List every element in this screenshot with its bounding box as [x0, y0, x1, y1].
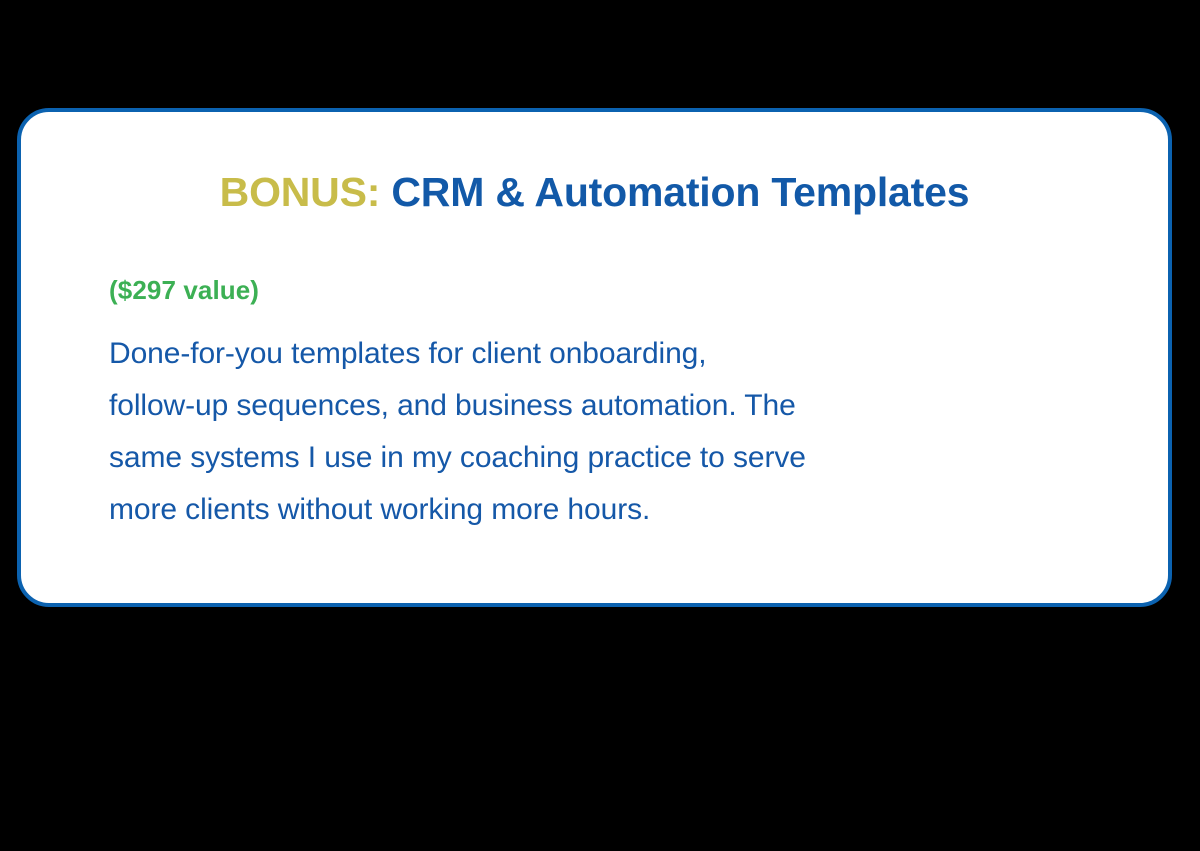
- body-line: follow-up sequences, and business automa…: [109, 380, 1077, 432]
- card-body-text: Done-for-you templates for client onboar…: [109, 328, 1077, 536]
- body-line: more clients without working more hours.: [109, 484, 1077, 536]
- heading-bonus-label: BONUS:: [220, 169, 381, 215]
- card-heading: BONUS: CRM & Automation Templates: [21, 169, 1168, 216]
- heading-title-label: CRM & Automation Templates: [391, 169, 969, 215]
- value-badge: ($297 value): [109, 275, 259, 306]
- body-line: same systems I use in my coaching practi…: [109, 432, 1077, 484]
- card-content: BONUS: CRM & Automation Templates ($297 …: [21, 112, 1168, 603]
- bonus-offer-card: BONUS: CRM & Automation Templates ($297 …: [17, 108, 1172, 607]
- body-line: Done-for-you templates for client onboar…: [109, 328, 1077, 380]
- page-canvas: BONUS: CRM & Automation Templates ($297 …: [0, 0, 1200, 851]
